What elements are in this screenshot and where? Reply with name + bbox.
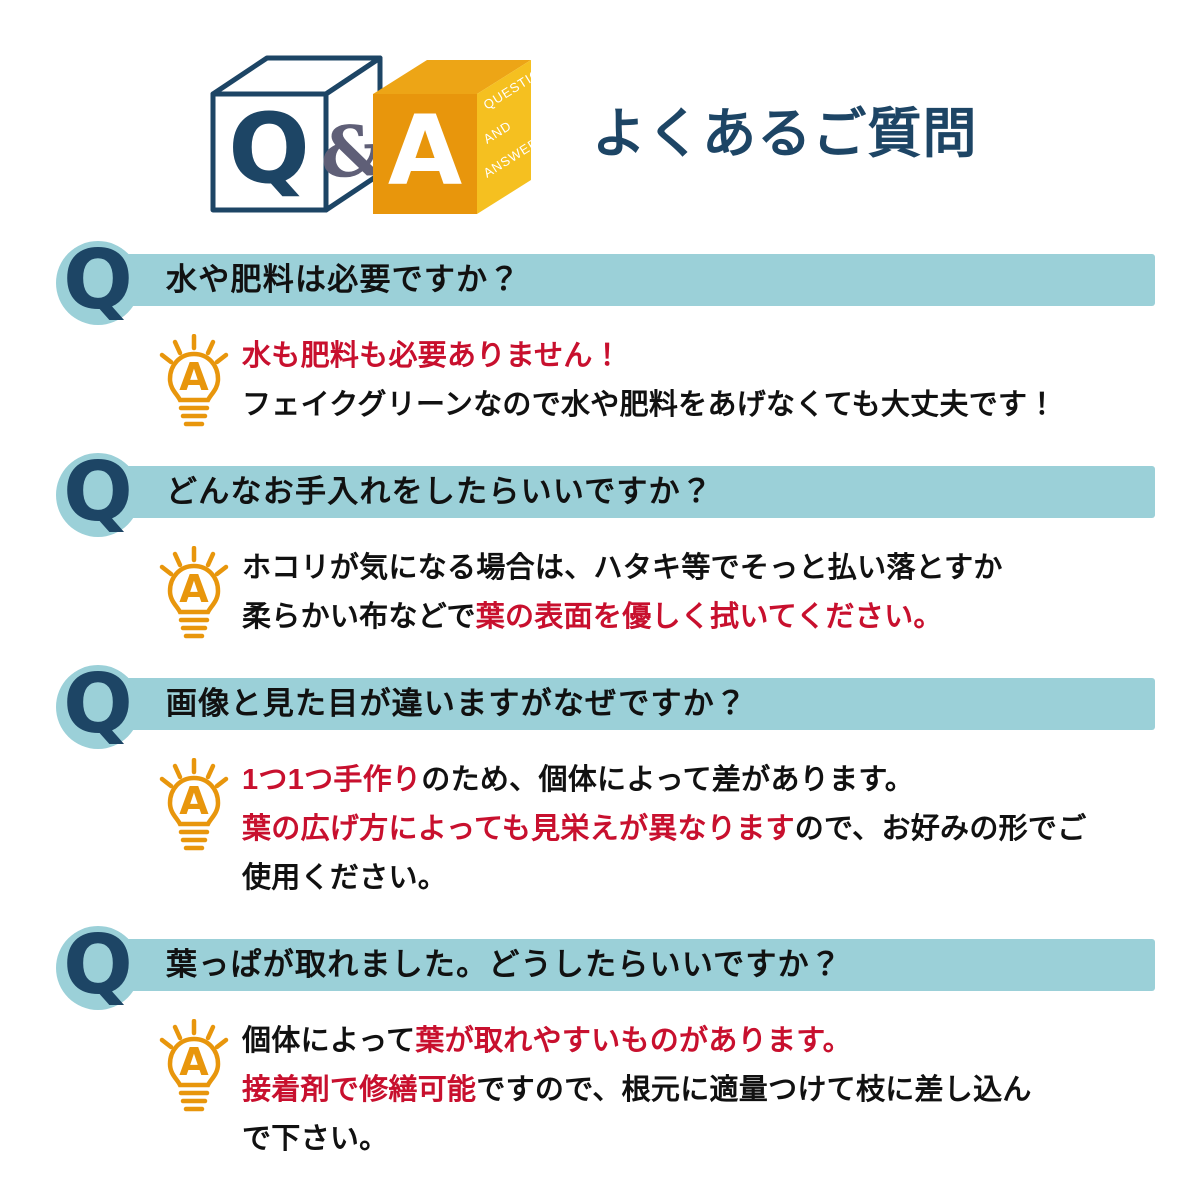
answer-line: で下さい。 [242, 1115, 1160, 1164]
faq-item[interactable]: Qどんなお手入れをしたらいいですか？Aホコリが気になる場合は、ハタキ等でそっと払… [0, 452, 1200, 664]
answer-text: 個体によって [242, 1025, 415, 1057]
question-badge-letter: Q [56, 655, 140, 755]
cube-letter-q: Q [228, 93, 310, 205]
faq-question-row[interactable]: Q画像と見た目が違いますがなぜですか？ [0, 664, 1200, 748]
spacer [0, 536, 1200, 544]
faq-answer-row: A水も肥料も必要ありません！フェイクグリーンなので水や肥料をあげなくても大丈夫で… [0, 332, 1200, 430]
spacer [0, 1164, 1200, 1186]
answer-text-highlight: 1つ1つ手作り [242, 764, 421, 796]
page-header: Q & A QUESTION AND ANSWER よくあるご質問 [0, 0, 1200, 240]
answer-line: フェイクグリーンなので水や肥料をあげなくても大丈夫です！ [242, 381, 1160, 430]
answer-text: フェイクグリーンなので水や肥料をあげなくても大丈夫です！ [242, 389, 1057, 421]
lightbulb-a-icon: A [158, 1019, 230, 1123]
answer-line: 1つ1つ手作りのため、個体によって差があります。 [242, 756, 1160, 805]
question-badge-letter: Q [56, 916, 140, 1016]
faq-list: Q水や肥料は必要ですか？A水も肥料も必要ありません！フェイクグリーンなので水や肥… [0, 240, 1200, 1186]
answer-text-highlight: 葉の表面を優しく拭いてください。 [476, 601, 943, 633]
answer-text-highlight: 葉が取れやすいものがあります。 [415, 1025, 851, 1057]
answer-line: 接着剤で修繕可能ですので、根元に適量つけて枝に差し込ん [242, 1066, 1160, 1115]
lightbulb-a-icon-svg: A [158, 334, 230, 438]
faq-answer-row: A個体によって葉が取れやすいものがあります。接着剤で修繕可能ですので、根元に適量… [0, 1017, 1200, 1164]
answer-text: ですので、根元に適量つけて枝に差し込ん [476, 1074, 1031, 1106]
faq-answer-row: Aホコリが気になる場合は、ハタキ等でそっと払い落とすか柔らかい布などで葉の表面を… [0, 544, 1200, 642]
answer-text-highlight: 葉の広げ方によっても見栄えが異なります [242, 813, 795, 845]
answer-line: ホコリが気になる場合は、ハタキ等でそっと払い落とすか [242, 544, 1160, 593]
lightbulb-a-icon-svg: A [158, 758, 230, 862]
question-text: 水や肥料は必要ですか？ [166, 254, 521, 306]
faq-answer-row: A1つ1つ手作りのため、個体によって差があります。葉の広げ方によっても見栄えが異… [0, 756, 1200, 903]
answer-text-highlight: 水も肥料も必要ありません！ [242, 340, 622, 372]
faq-question-row[interactable]: Qどんなお手入れをしたらいいですか？ [0, 452, 1200, 536]
answer-line: 水も肥料も必要ありません！ [242, 332, 1160, 381]
lightbulb-a-icon: A [158, 546, 230, 650]
faq-question-row[interactable]: Q葉っぱが取れました。どうしたらいいですか？ [0, 925, 1200, 1009]
lightbulb-letter-a: A [179, 779, 209, 823]
question-badge-letter: Q [56, 231, 140, 331]
cube-letter-a: A [388, 95, 462, 207]
lightbulb-a-icon-svg: A [158, 546, 230, 650]
spacer [0, 324, 1200, 332]
answer-text: ホコリが気になる場合は、ハタキ等でそっと払い落とすか [242, 552, 1003, 584]
qa-cube-logo: Q & A QUESTION AND ANSWER [205, 52, 535, 222]
answer-text-highlight: 接着剤で修繕可能 [242, 1074, 476, 1106]
question-text: 葉っぱが取れました。どうしたらいいですか？ [166, 939, 842, 991]
lightbulb-a-icon: A [158, 758, 230, 862]
spacer [0, 1009, 1200, 1017]
page-title: よくあるご質問 [592, 103, 978, 165]
answer-line: 使用ください。 [242, 854, 1160, 903]
qa-cube-logo-svg: Q & A QUESTION AND ANSWER [205, 52, 535, 222]
answer-text: ので、お好みの形でご [795, 813, 1087, 845]
faq-question-row[interactable]: Q水や肥料は必要ですか？ [0, 240, 1200, 324]
answer-line: 個体によって葉が取れやすいものがあります。 [242, 1017, 1160, 1066]
question-text: どんなお手入れをしたらいいですか？ [166, 466, 713, 518]
spacer [0, 748, 1200, 756]
faq-item[interactable]: Q画像と見た目が違いますがなぜですか？A1つ1つ手作りのため、個体によって差があ… [0, 664, 1200, 925]
lightbulb-a-icon-svg: A [158, 1019, 230, 1123]
question-badge-letter: Q [56, 443, 140, 543]
answer-text: 使用ください。 [242, 862, 447, 894]
lightbulb-letter-a: A [179, 1040, 209, 1084]
faq-item[interactable]: Q葉っぱが取れました。どうしたらいいですか？A個体によって葉が取れやすいものがあ… [0, 925, 1200, 1186]
spacer [0, 903, 1200, 925]
answer-line: 葉の広げ方によっても見栄えが異なりますので、お好みの形でご [242, 805, 1160, 854]
answer-text: のため、個体によって差があります。 [421, 764, 914, 796]
lightbulb-letter-a: A [179, 567, 209, 611]
lightbulb-letter-a: A [179, 355, 209, 399]
faq-item[interactable]: Q水や肥料は必要ですか？A水も肥料も必要ありません！フェイクグリーンなので水や肥… [0, 240, 1200, 452]
answer-text: で下さい。 [242, 1123, 388, 1155]
lightbulb-a-icon: A [158, 334, 230, 438]
answer-line: 柔らかい布などで葉の表面を優しく拭いてください。 [242, 593, 1160, 642]
question-text: 画像と見た目が違いますがなぜですか？ [166, 678, 747, 730]
answer-text: 柔らかい布などで [242, 601, 476, 633]
